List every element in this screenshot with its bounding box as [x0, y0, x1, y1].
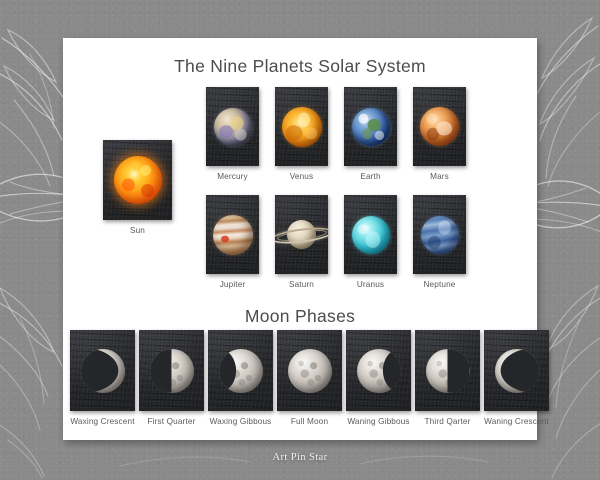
card-surface-mercury [206, 87, 259, 166]
card-surface-waning-gibbous [346, 330, 411, 411]
moon-waning-gibbous [357, 349, 401, 393]
card-surface-third-quarter [415, 330, 480, 411]
poster-sheet: The Nine Planets Solar System Sun Mercur… [63, 38, 537, 440]
jupiter-body [213, 215, 253, 255]
planet-card-mercury[interactable]: Mercury [206, 87, 259, 166]
moon-card-waning-gibbous[interactable]: Waning Gibbous [346, 330, 411, 411]
planet-card-venus[interactable]: Venus [275, 87, 328, 166]
moon-label-waning-crescent: Waning Crescent [468, 417, 565, 426]
card-surface-mars [413, 87, 466, 166]
moon-disc [288, 349, 332, 393]
card-surface-first-quarter [139, 330, 204, 411]
sun-body [114, 156, 162, 204]
card-surface-waxing-crescent [70, 330, 135, 411]
neptune-body [421, 216, 459, 254]
card-surface-full-moon [277, 330, 342, 411]
card-surface-waning-crescent [484, 330, 549, 411]
moon-card-full-moon[interactable]: Full Moon [277, 330, 342, 411]
moon-first-quarter [150, 349, 194, 393]
planet-label-mars: Mars [397, 172, 482, 181]
screenshot-stage: The Nine Planets Solar System Sun Mercur… [0, 0, 600, 480]
moon-third-quarter [426, 349, 470, 393]
moon-waxing-crescent [81, 349, 125, 393]
planet-card-earth[interactable]: Earth [344, 87, 397, 166]
moon-card-waxing-crescent[interactable]: Waxing Crescent [70, 330, 135, 411]
moon-card-first-quarter[interactable]: First Quarter [139, 330, 204, 411]
moon-phases-section-title: Moon Phases [63, 306, 537, 327]
saturn-ring-outer [275, 224, 328, 245]
watermark-text: Art Pin Star [0, 452, 600, 463]
uranus-body [352, 216, 390, 254]
moon-full-moon [288, 349, 332, 393]
card-surface-neptune [413, 195, 466, 274]
card-surface-earth [344, 87, 397, 166]
card-surface-waxing-gibbous [208, 330, 273, 411]
planet-label-neptune: Neptune [397, 280, 482, 289]
card-surface-jupiter [206, 195, 259, 274]
planet-card-neptune[interactable]: Neptune [413, 195, 466, 274]
planets-section-title: The Nine Planets Solar System [63, 56, 537, 77]
mars-body [420, 107, 459, 146]
moon-waning-crescent [495, 349, 539, 393]
planet-label-sun: Sun [87, 226, 188, 235]
planet-card-sun[interactable]: Sun [103, 140, 172, 220]
planet-card-mars[interactable]: Mars [413, 87, 466, 166]
moon-waxing-gibbous [219, 349, 263, 393]
card-surface-venus [275, 87, 328, 166]
card-surface-sun [103, 140, 172, 220]
moon-card-waxing-gibbous[interactable]: Waxing Gibbous [208, 330, 273, 411]
earth-body [352, 108, 390, 146]
card-surface-uranus [344, 195, 397, 274]
planet-card-jupiter[interactable]: Jupiter [206, 195, 259, 274]
card-surface-saturn [275, 195, 328, 274]
saturn-group [275, 195, 328, 274]
moon-card-third-quarter[interactable]: Third Qarter [415, 330, 480, 411]
mercury-body [214, 108, 252, 146]
moon-card-waning-crescent[interactable]: Waning Crescent [484, 330, 549, 411]
venus-body [282, 107, 322, 147]
planet-card-uranus[interactable]: Uranus [344, 195, 397, 274]
planet-card-saturn[interactable]: Saturn [275, 195, 328, 274]
